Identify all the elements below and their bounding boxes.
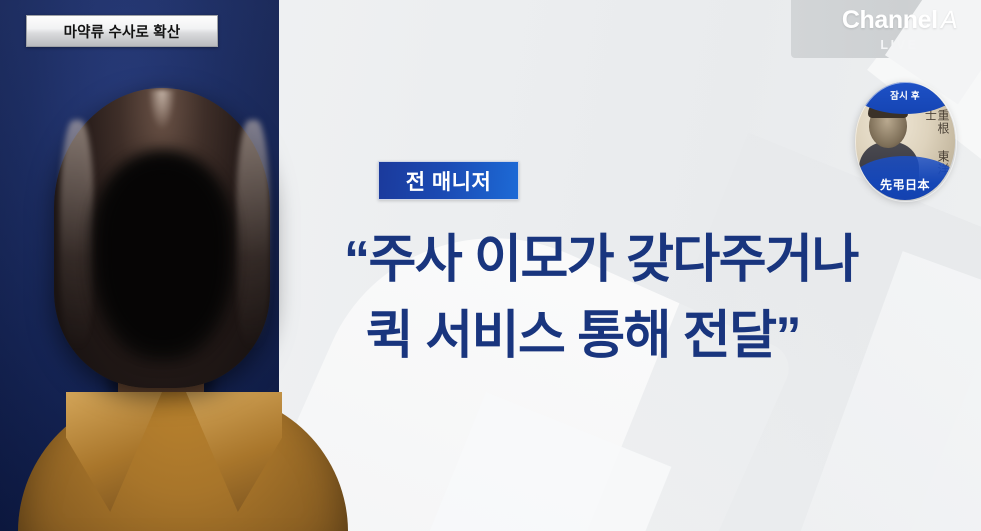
badge-bottom-cap: 先弔日本 (855, 156, 955, 200)
hair-sheen-left (60, 120, 94, 350)
speaker-tag: 전 매니저 (378, 161, 519, 200)
hair-part (148, 90, 176, 130)
face-anonymization-core (100, 162, 226, 348)
coming-up-next-badge[interactable]: 安重根 東洋志士 잠시 후 先弔日本 (855, 82, 955, 200)
broadcast-screen: 마약류 수사로 확산 ChannelA LIVE 安重根 東洋志士 잠시 후 先… (0, 0, 981, 531)
quote-block: “주사 이모가 갖다주거나 퀵 서비스 통해 전달” (344, 222, 954, 374)
badge-top-label: 잠시 후 (890, 88, 920, 102)
bg-shape-4 (389, 392, 672, 531)
quote-line-2: 퀵 서비스 통해 전달” (344, 298, 954, 374)
headline-banner: 마약류 수사로 확산 (26, 15, 218, 47)
speaker-tag-label: 전 매니저 (406, 166, 492, 196)
badge-bottom-label: 先弔日本 (880, 176, 930, 193)
headline-banner-text: 마약류 수사로 확산 (64, 21, 181, 42)
logo-backdrop-band (791, 0, 981, 58)
hair-sheen-right (236, 120, 270, 350)
interviewee-silhouette (0, 0, 360, 531)
quote-line-1: “주사 이모가 갖다주거나 (344, 222, 954, 298)
